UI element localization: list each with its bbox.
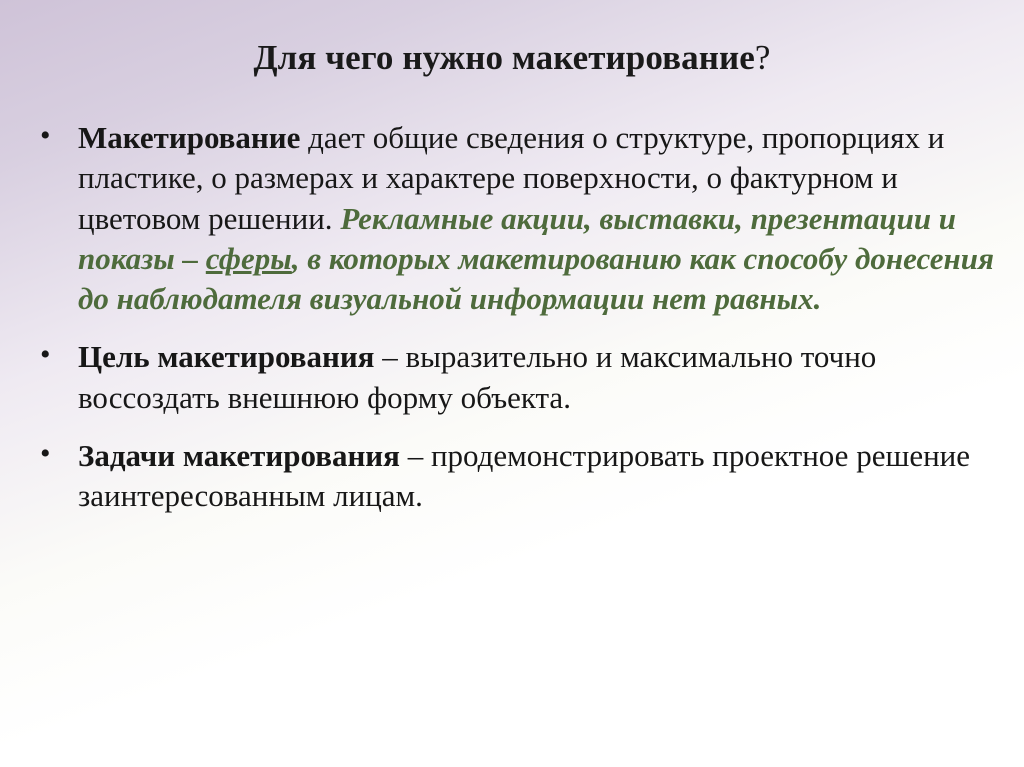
bullet-lead-definition: Макетирование [78, 120, 300, 155]
page-title-text: Для чего нужно макетирование [253, 38, 754, 77]
slide-body: Макетирование дает общие сведения о стру… [22, 118, 1007, 535]
list-item: Цель макетирования – выразительно и макс… [22, 337, 1007, 418]
bullet-accent-underlined: сферы [206, 241, 292, 276]
list-item: Задачи макетирования – продемонстрироват… [22, 436, 1007, 517]
list-item: Макетирование дает общие сведения о стру… [22, 118, 1007, 319]
bullet-lead-tasks: Задачи макетирования [78, 438, 400, 473]
bullet-list: Макетирование дает общие сведения о стру… [22, 118, 1007, 517]
slide: Для чего нужно макетирование? Макетирова… [0, 0, 1024, 767]
page-title: Для чего нужно макетирование? [0, 38, 1024, 78]
bullet-lead-goal: Цель макетирования [78, 339, 374, 374]
page-title-question-mark: ? [755, 38, 771, 77]
